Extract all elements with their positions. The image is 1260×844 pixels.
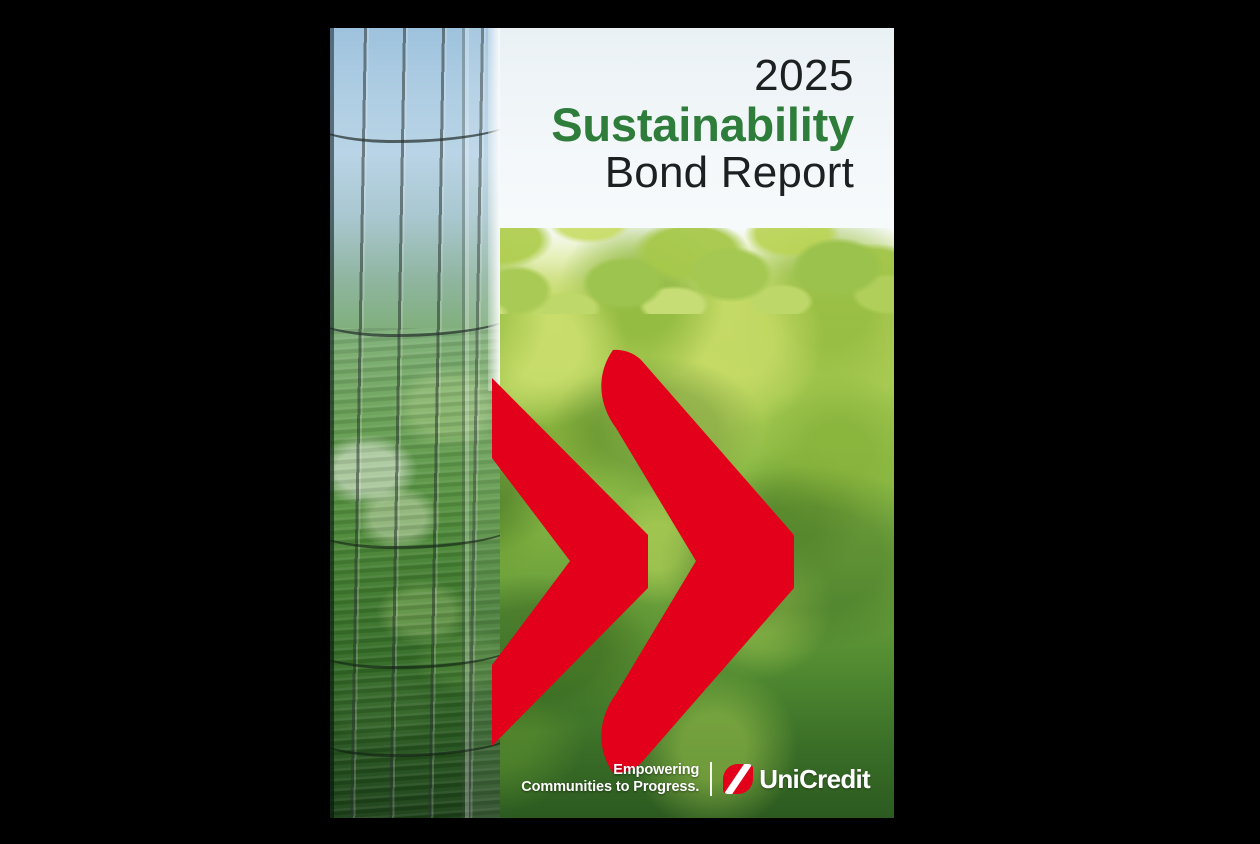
unicredit-mark-icon (723, 764, 753, 794)
brand-tagline: Empowering Communities to Progress. (521, 762, 699, 796)
cover-title-block: 2025 Sustainability Bond Report (551, 54, 854, 196)
cover-footer: Empowering Communities to Progress. UniC… (521, 762, 870, 796)
tagline-line-2: Communities to Progress. (521, 779, 699, 796)
facade-sky-rim-highlight (488, 28, 500, 391)
unicredit-wordmark: UniCredit (759, 764, 870, 795)
unicredit-slash-icon (725, 764, 752, 794)
tagline-line-1: Empowering (521, 762, 699, 779)
title-subtitle: Bond Report (551, 151, 854, 196)
glass-building-image (330, 28, 500, 818)
unicredit-logo: UniCredit (723, 764, 870, 795)
report-cover-page: 2025 Sustainability Bond Report Empoweri… (330, 28, 894, 818)
facade-left-edge-shadow (330, 28, 334, 818)
logo-divider (710, 762, 712, 796)
screenshot-canvas: 2025 Sustainability Bond Report Empoweri… (0, 0, 1260, 844)
title-year: 2025 (551, 54, 854, 99)
title-main: Sustainability (551, 101, 854, 149)
